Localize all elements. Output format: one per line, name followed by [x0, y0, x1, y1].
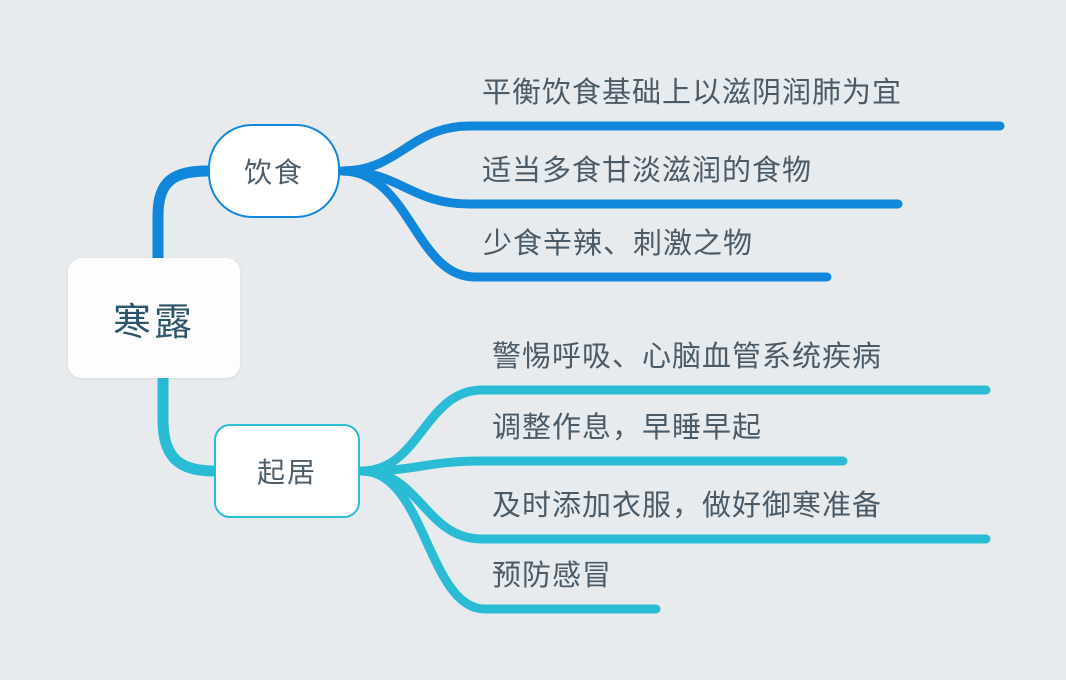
mindmap-canvas: 寒露 饮食 起居 平衡饮食基础上以滋阴润肺为宜 适当多食甘淡滋润的食物 少食辛辣…	[0, 0, 1066, 680]
mindmap-root-node[interactable]: 寒露	[68, 258, 240, 378]
edge-daily-to-leaf-2	[362, 461, 843, 471]
mindmap-leaf-daily-2[interactable]: 调整作息，早睡早起	[492, 414, 762, 443]
mindmap-branch-node-daily[interactable]: 起居	[214, 424, 360, 518]
branch-node-label-daily: 起居	[257, 451, 317, 491]
mindmap-leaf-diet-1[interactable]: 平衡饮食基础上以滋阴润肺为宜	[482, 79, 902, 108]
mindmap-branch-node-diet[interactable]: 饮食	[208, 124, 340, 218]
root-node-label: 寒露	[113, 291, 195, 346]
mindmap-leaf-diet-3[interactable]: 少食辛辣、刺激之物	[483, 230, 753, 259]
mindmap-leaf-daily-3[interactable]: 及时添加衣服，做好御寒准备	[492, 492, 882, 521]
mindmap-leaf-daily-4[interactable]: 预防感冒	[492, 562, 612, 591]
branch-node-label-diet: 饮食	[244, 151, 304, 191]
edge-root-to-diet	[158, 171, 208, 258]
mindmap-leaf-daily-1[interactable]: 警惕呼吸、心脑血管系统疾病	[492, 343, 882, 372]
mindmap-leaf-diet-2[interactable]: 适当多食甘淡滋润的食物	[482, 157, 812, 186]
edge-root-to-daily	[163, 378, 214, 471]
